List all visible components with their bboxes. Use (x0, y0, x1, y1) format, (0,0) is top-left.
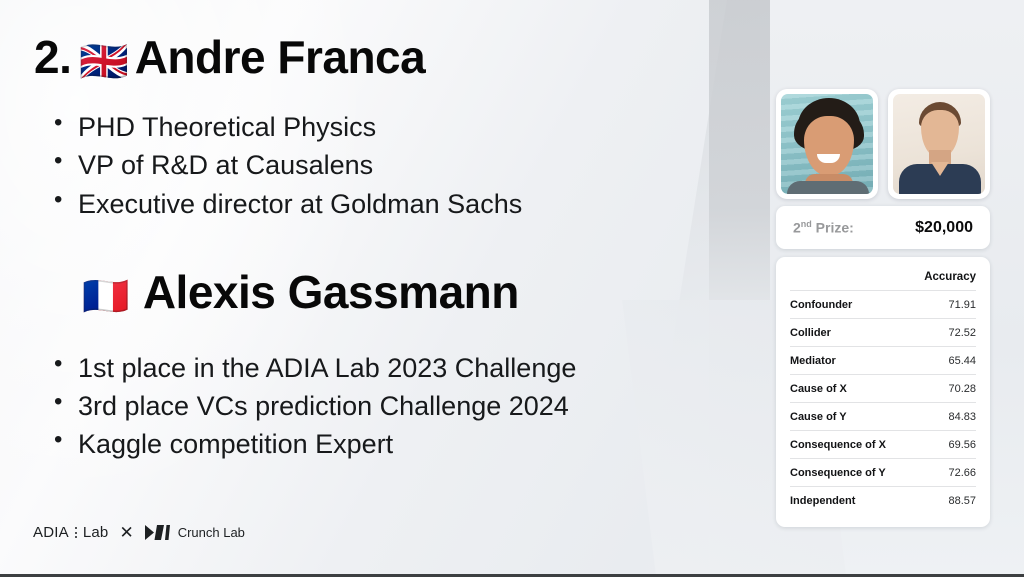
adia-lab-word-lab: Lab (83, 524, 109, 541)
adia-lab-logo: ADIA Lab (33, 524, 108, 541)
accuracy-table-body: Confounder71.91Collider72.52Mediator65.4… (790, 291, 976, 515)
footer-branding: ADIA Lab ✕ Crunch Lab (33, 524, 245, 541)
table-row: Cause of X70.28 (790, 375, 976, 403)
table-header-row: Accuracy (790, 268, 976, 291)
row-label: Cause of X (790, 375, 911, 403)
person-two-name: Alexis Gassmann (143, 266, 519, 318)
person-one-heading: 2.🇬🇧Andre Franca (34, 32, 700, 84)
crunch-lab-mark-icon (145, 525, 171, 540)
dotted-divider-icon (75, 527, 77, 538)
row-label-header (790, 268, 911, 291)
prize-banner: 2nd Prize: $20,000 (776, 206, 990, 249)
prize-ordinal: 2 (793, 220, 801, 236)
adia-lab-word-adia: ADIA (33, 524, 69, 541)
person-two-heading: 🇫🇷Alexis Gassmann (82, 267, 700, 319)
person-one-bullet-list: PHD Theoretical Physics VP of R&D at Cau… (34, 108, 700, 223)
list-item: 3rd place VCs prediction Challenge 2024 (34, 387, 700, 425)
list-item: PHD Theoretical Physics (34, 108, 700, 146)
table-row: Cause of Y84.83 (790, 403, 976, 431)
row-label: Cause of Y (790, 403, 911, 431)
list-item: Kaggle competition Expert (34, 425, 700, 463)
accuracy-table-card: Accuracy Confounder71.91Collider72.52Med… (776, 257, 990, 527)
row-accuracy-value: 88.57 (911, 487, 976, 515)
prize-amount: $20,000 (915, 219, 973, 237)
accuracy-table-head: Accuracy (790, 268, 976, 291)
row-label: Confounder (790, 291, 911, 319)
row-label: Consequence of Y (790, 459, 911, 487)
rank-number: 2. (34, 31, 71, 83)
row-accuracy-value: 70.28 (911, 375, 976, 403)
prize-label: 2nd Prize: (793, 219, 854, 236)
row-label: Consequence of X (790, 431, 911, 459)
list-item: 1st place in the ADIA Lab 2023 Challenge (34, 349, 700, 387)
table-row: Mediator65.44 (790, 347, 976, 375)
row-accuracy-value: 65.44 (911, 347, 976, 375)
accuracy-column-header: Accuracy (911, 268, 976, 291)
crunch-lab-label: Crunch Lab (178, 525, 245, 540)
portrait-card-person-one (776, 89, 878, 199)
slide-content-right: 2nd Prize: $20,000 Accuracy Confounder71… (770, 0, 1024, 577)
portrait-photo-alexis-gassmann (893, 94, 985, 194)
list-item: VP of R&D at Causalens (34, 146, 700, 184)
row-label: Collider (790, 319, 911, 347)
row-label: Independent (790, 487, 911, 515)
prize-ordinal-suffix: nd (801, 219, 812, 229)
table-row: Confounder71.91 (790, 291, 976, 319)
cross-icon: ✕ (119, 524, 133, 541)
presentation-slide: 2.🇬🇧Andre Franca PHD Theoretical Physics… (0, 0, 1024, 577)
row-label: Mediator (790, 347, 911, 375)
row-accuracy-value: 69.56 (911, 431, 976, 459)
row-accuracy-value: 84.83 (911, 403, 976, 431)
table-row: Consequence of Y72.66 (790, 459, 976, 487)
portrait-card-person-two (888, 89, 990, 199)
row-accuracy-value: 71.91 (911, 291, 976, 319)
table-row: Collider72.52 (790, 319, 976, 347)
portrait-photo-andre-franca (781, 94, 873, 194)
row-accuracy-value: 72.52 (911, 319, 976, 347)
slide-content-left: 2.🇬🇧Andre Franca PHD Theoretical Physics… (0, 0, 700, 577)
table-row: Independent88.57 (790, 487, 976, 515)
row-accuracy-value: 72.66 (911, 459, 976, 487)
person-one-name: Andre Franca (135, 31, 426, 83)
accuracy-table: Accuracy Confounder71.91Collider72.52Med… (790, 268, 976, 514)
france-flag: 🇫🇷 (82, 276, 129, 318)
crunch-lab-logo: Crunch Lab (145, 525, 245, 540)
united-kingdom-flag: 🇬🇧 (79, 40, 128, 84)
prize-label-tail: Prize: (812, 220, 854, 236)
list-item: Executive director at Goldman Sachs (34, 185, 700, 223)
portrait-gallery (776, 89, 990, 199)
person-two-bullet-list: 1st place in the ADIA Lab 2023 Challenge… (34, 349, 700, 464)
table-row: Consequence of X69.56 (790, 431, 976, 459)
